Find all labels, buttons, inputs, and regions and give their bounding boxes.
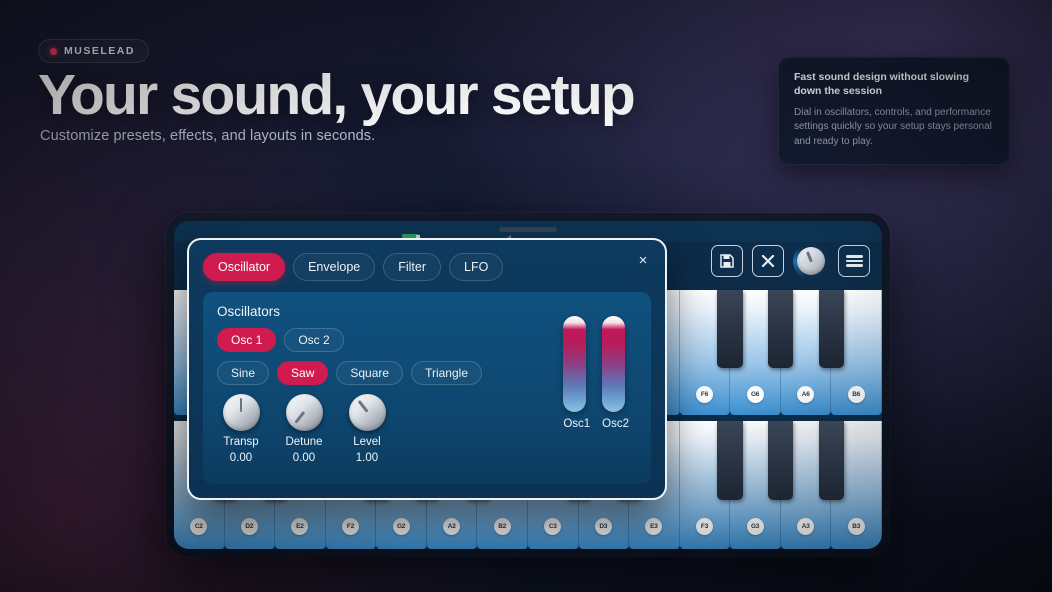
save-button[interactable]	[711, 245, 743, 277]
note-label: A6	[797, 386, 814, 403]
detune-label: Detune	[280, 436, 328, 448]
menu-button[interactable]	[838, 245, 870, 277]
transpose-control[interactable]: Transp 0.00	[217, 394, 265, 464]
piano-key-black[interactable]	[717, 421, 742, 500]
osc1-meter-bar[interactable]	[563, 316, 586, 412]
oscillator-modal: × Oscillator Envelope Filter LFO Oscilla…	[187, 238, 667, 500]
piano-key-black[interactable]	[819, 421, 844, 500]
detune-value: 0.00	[280, 452, 328, 464]
piano-key-black[interactable]	[819, 290, 844, 368]
osc1-meter-label: Osc1	[563, 418, 590, 430]
note-label: B2	[494, 518, 511, 535]
note-label: D3	[595, 518, 612, 535]
page-background: MUSELEAD Your sound, your setup Customiz…	[0, 0, 1052, 592]
modal-close-button[interactable]: ×	[634, 252, 652, 270]
brand-dot-icon	[50, 48, 57, 55]
menu-icon	[846, 253, 863, 269]
note-label: F2	[342, 518, 359, 535]
level-value: 1.00	[343, 452, 391, 464]
transpose-value: 0.00	[217, 452, 265, 464]
app-toolbar	[711, 243, 870, 279]
note-label: D2	[241, 518, 258, 535]
tab-oscillator[interactable]: Oscillator	[203, 253, 285, 281]
waveform-square-button[interactable]: Square	[336, 361, 403, 385]
level-meters: Osc1 Osc2	[563, 316, 629, 430]
detune-control[interactable]: Detune 0.00	[280, 394, 328, 464]
piano-key-black[interactable]	[768, 290, 793, 368]
callout-card: Fast sound design without slowing down t…	[778, 57, 1010, 165]
note-label: F3	[696, 518, 713, 535]
osc-2-button[interactable]: Osc 2	[284, 328, 343, 352]
brand-badge: MUSELEAD	[38, 39, 149, 63]
volume-knob[interactable]	[793, 243, 829, 279]
note-label: G2	[393, 518, 410, 535]
callout-title: Fast sound design without slowing down t…	[794, 71, 994, 99]
note-label: G3	[747, 518, 764, 535]
level-knob-icon[interactable]	[349, 394, 386, 431]
note-label: C3	[544, 518, 561, 535]
page-title: Your sound, your setup	[38, 66, 634, 126]
speaker-grille-icon	[499, 227, 557, 232]
osc2-meter-bar[interactable]	[602, 316, 625, 412]
modal-tabs: Oscillator Envelope Filter LFO	[203, 253, 651, 281]
save-icon	[719, 253, 735, 269]
osc2-meter-label: Osc2	[602, 418, 629, 430]
note-label: E3	[645, 518, 662, 535]
waveform-sine-button[interactable]: Sine	[217, 361, 269, 385]
note-label: A3	[797, 518, 814, 535]
page-subtitle: Customize presets, effects, and layouts …	[40, 128, 375, 144]
tab-lfo[interactable]: LFO	[449, 253, 503, 281]
note-label: F6	[696, 386, 713, 403]
note-label: E2	[291, 518, 308, 535]
piano-key-black[interactable]	[717, 290, 742, 368]
transpose-knob-icon[interactable]	[223, 394, 260, 431]
knob-cap-icon	[797, 247, 825, 275]
callout-body: Dial in oscillators, controls, and perfo…	[794, 106, 994, 150]
waveform-triangle-button[interactable]: Triangle	[411, 361, 482, 385]
tab-filter[interactable]: Filter	[383, 253, 441, 281]
note-label: G6	[747, 386, 764, 403]
oscillators-card: Oscillators Osc 1 Osc 2 Sine Saw Square …	[203, 292, 651, 484]
close-icon	[761, 254, 775, 268]
piano-key-black[interactable]	[768, 421, 793, 500]
osc-1-button[interactable]: Osc 1	[217, 328, 276, 352]
brand-name: MUSELEAD	[64, 45, 135, 57]
osc1-meter[interactable]: Osc1	[563, 316, 590, 430]
note-label: C2	[190, 518, 207, 535]
close-button[interactable]	[752, 245, 784, 277]
note-label: B3	[848, 518, 865, 535]
level-control[interactable]: Level 1.00	[343, 394, 391, 464]
tab-envelope[interactable]: Envelope	[293, 253, 375, 281]
osc2-meter[interactable]: Osc2	[602, 316, 629, 430]
note-label: B6	[848, 386, 865, 403]
level-label: Level	[343, 436, 391, 448]
transpose-label: Transp	[217, 436, 265, 448]
note-label: A2	[443, 518, 460, 535]
waveform-saw-button[interactable]: Saw	[277, 361, 328, 385]
detune-knob-icon[interactable]	[286, 394, 323, 431]
